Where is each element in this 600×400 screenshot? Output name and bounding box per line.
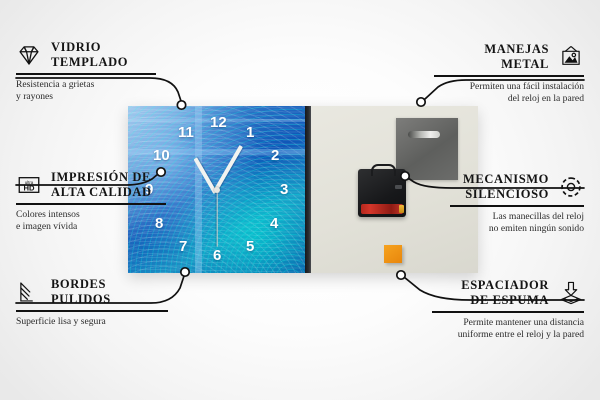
- battery-terminal: [399, 205, 404, 213]
- callout-manejas-metal: MANEJAS METAL Permiten una fácil instala…: [434, 42, 584, 106]
- callout-subtitle: Resistencia a grietas y rayones: [16, 79, 156, 105]
- second-hand: [216, 190, 217, 246]
- ultra-hd-icon: ultra HD: [16, 172, 42, 198]
- clock-numeral-5: 5: [246, 239, 254, 254]
- clock-numeral-4: 4: [270, 216, 278, 231]
- infographic-canvas: 12 1 2 3 4 5 6 7 8 9 10 11: [0, 0, 600, 400]
- gear-icon: [558, 174, 584, 200]
- callout-title: BORDES PULIDOS: [51, 277, 111, 307]
- clock-numeral-7: 7: [179, 239, 187, 254]
- callout-divider: [434, 75, 584, 77]
- hand-center-cap: [214, 187, 220, 193]
- callout-subtitle: Las manecillas del reloj no emiten ningú…: [450, 211, 584, 237]
- callout-divider: [450, 205, 584, 207]
- clock-numeral-11: 11: [178, 125, 194, 140]
- callout-title: VIDRIO TEMPLADO: [51, 40, 128, 70]
- callout-subtitle: Permiten una fácil instalación del reloj…: [434, 81, 584, 107]
- callout-impresion-alta-calidad: ultra HD IMPRESIÓN DE ALTA CALIDAD Color…: [16, 170, 166, 234]
- callout-mecanismo-silencioso: MECANISMO SILENCIOSO Las manecillas del …: [450, 172, 584, 236]
- callout-title: MECANISMO SILENCIOSO: [463, 172, 549, 202]
- callout-subtitle: Permite mantener una distancia uniforme …: [432, 317, 584, 343]
- callout-divider: [432, 311, 584, 313]
- callout-bordes-pulidos: BORDES PULIDOS Superficie lisa y segura: [16, 277, 168, 328]
- product-photo: 12 1 2 3 4 5 6 7 8 9 10 11: [128, 106, 478, 273]
- mechanism-hanging-loop: [371, 164, 396, 176]
- callout-divider: [16, 310, 168, 312]
- clock-numeral-3: 3: [280, 182, 288, 197]
- callout-divider: [16, 73, 156, 75]
- callout-vidrio-templado: VIDRIO TEMPLADO Resistencia a grietas y …: [16, 40, 156, 104]
- callout-espaciador-de-espuma: ESPACIADOR DE ESPUMA Permite mantener un…: [432, 278, 584, 342]
- arrow-into-layers-icon: [558, 280, 584, 306]
- battery: [361, 204, 403, 214]
- diamond-icon: [16, 42, 42, 68]
- hanger-keyhole-slot: [408, 131, 440, 138]
- foam-spacer: [384, 245, 402, 263]
- callout-subtitle: Superficie lisa y segura: [16, 316, 168, 329]
- clock-numeral-12: 12: [210, 115, 227, 130]
- clock-numeral-1: 1: [246, 125, 254, 140]
- polished-edges-icon: [16, 279, 42, 305]
- ultra-hd-icon-large-text: HD: [23, 183, 35, 192]
- wire-endpoint-manejas-metal: [417, 98, 425, 106]
- callout-divider: [16, 203, 166, 205]
- clock-numeral-10: 10: [153, 148, 170, 163]
- clock-numeral-2: 2: [271, 148, 279, 163]
- mechanism-port: [395, 185, 402, 189]
- callout-title: ESPACIADOR DE ESPUMA: [461, 278, 549, 308]
- callout-title: IMPRESIÓN DE ALTA CALIDAD: [51, 170, 152, 200]
- clock-mechanism: [358, 169, 406, 217]
- clock-numeral-6: 6: [213, 248, 221, 263]
- hanging-picture-frame-icon: [558, 44, 584, 70]
- callout-subtitle: Colores intensos e imagen vívida: [16, 209, 166, 235]
- callout-title: MANEJAS METAL: [484, 42, 549, 72]
